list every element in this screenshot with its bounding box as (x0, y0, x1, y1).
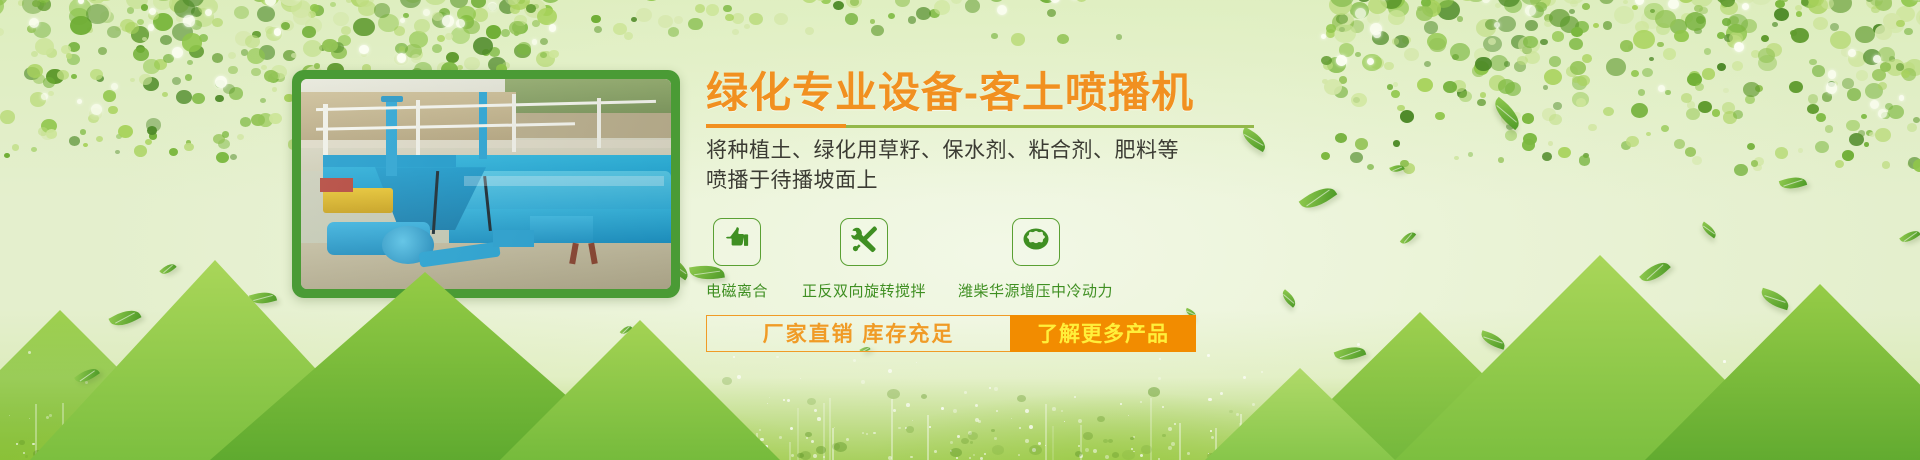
feature-item-mixing: 正反双向旋转搅拌 (802, 218, 926, 301)
promo-banner: 绿化专业设备-客土喷播机 将种植土、绿化用草籽、保水剂、粘合剂、肥料等 喷播于待… (0, 0, 1920, 460)
photo-overlay-sheen (301, 79, 671, 289)
feature-icon-box (1012, 218, 1060, 266)
feature-item-clutch: 电磁离合 (706, 218, 768, 301)
title-divider (706, 125, 1254, 128)
product-photo (301, 79, 671, 289)
learn-more-button[interactable]: 了解更多产品 (1010, 315, 1196, 352)
description-line-1: 将种植土、绿化用草籽、保水剂、粘合剂、肥料等 (706, 136, 1406, 166)
feature-label: 正反双向旋转搅拌 (802, 280, 926, 301)
banner-content: 绿化专业设备-客土喷播机 将种植土、绿化用草籽、保水剂、粘合剂、肥料等 喷播于待… (706, 70, 1406, 352)
feature-label: 潍柴华源增压中冷动力 (958, 280, 1113, 301)
feature-list: 电磁离合 正反双向旋转搅拌 (706, 218, 1406, 301)
feature-icon-box (840, 218, 888, 266)
feature-label: 电磁离合 (706, 280, 768, 301)
cta-bar: 厂家直销 库存充足 了解更多产品 (706, 315, 1196, 352)
product-photo-frame[interactable] (292, 70, 680, 298)
description-line-2: 喷播于待播坡面上 (706, 166, 1406, 196)
page-title: 绿化专业设备-客土喷播机 (706, 70, 1406, 115)
feature-item-power: 潍柴华源增压中冷动力 (958, 218, 1113, 301)
gear-icon (1021, 224, 1051, 259)
tools-wrench-screwdriver-icon (849, 224, 879, 259)
cta-tagline: 厂家直销 库存充足 (706, 315, 1010, 352)
thumbs-up-icon (722, 224, 752, 259)
feature-icon-box (713, 218, 761, 266)
